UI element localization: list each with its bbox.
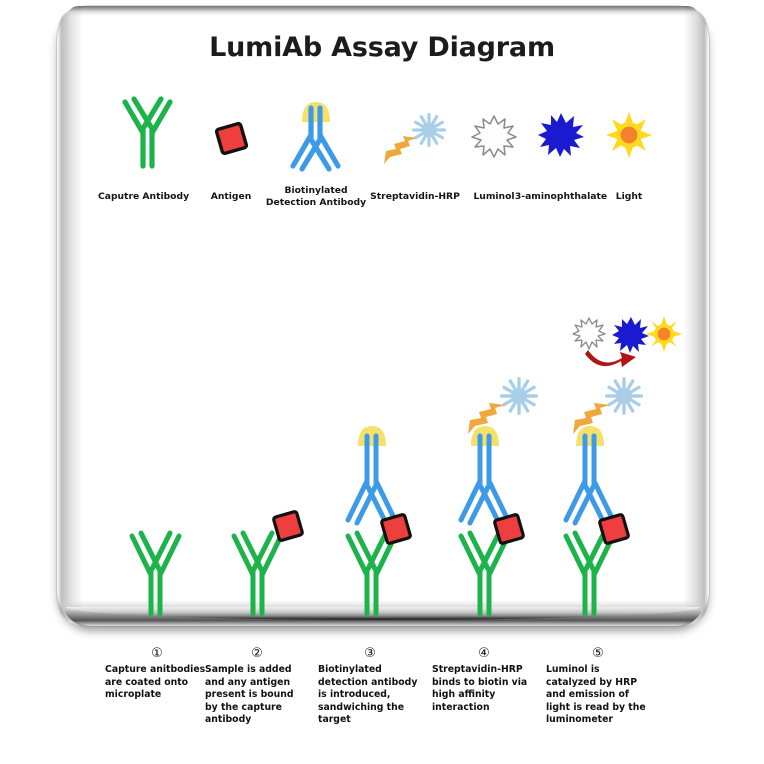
- biotin-cap: [576, 426, 604, 446]
- legend-antigen-icon: [209, 116, 253, 160]
- stage-1-capture-antibody-coated: [118, 530, 194, 616]
- streptavidin-hrp: [573, 377, 643, 434]
- luminol-icon: [573, 318, 605, 349]
- step-text-1: Capture anitbodies are coated onto micro…: [105, 664, 209, 702]
- page-title: LumiAb Assay Diagram: [0, 32, 764, 63]
- step-column-1: ① Capture anitbodies are coated onto mic…: [105, 646, 209, 702]
- antigen: [494, 514, 524, 544]
- capture-antibody: [461, 533, 508, 614]
- step-number-5: ⑤: [546, 646, 650, 661]
- legend-luminol-icon: [470, 114, 518, 158]
- biotinylated-detection-antibody: [348, 436, 395, 523]
- step-text-2: Sample is added and any antigen present …: [205, 664, 309, 727]
- antigen: [599, 514, 629, 544]
- step-number-4: ④: [432, 646, 536, 661]
- legend-label-biotinylated-detection-antibody-line1: Biotinylated: [256, 185, 376, 197]
- light-icon: [646, 316, 682, 352]
- aminophthalate-icon: [612, 317, 649, 353]
- step-number-3: ③: [318, 646, 422, 661]
- reaction-arrow: [585, 350, 636, 367]
- stage-3-detection-antibody-sandwich: [330, 424, 426, 616]
- streptavidin-hrp: [468, 377, 538, 434]
- stage-4-streptavidin-hrp-bound: [443, 374, 561, 616]
- legend-label-capture-antibody: Caputre Antibody: [98, 191, 189, 203]
- antigen: [273, 511, 303, 541]
- stage-2-antigen-bound: [220, 512, 310, 616]
- vessel-wall-left: [57, 6, 83, 626]
- legend-biotinylated-detection-antibody-icon: [285, 100, 347, 172]
- capture-antibody: [348, 533, 395, 614]
- capture-antibody: [132, 533, 179, 614]
- capture-antibody: [566, 533, 613, 614]
- step-number-1: ①: [105, 646, 209, 661]
- stage-5-luminol-reaction: [548, 374, 678, 616]
- biotinylated-detection-antibody: [566, 436, 613, 523]
- step-column-2: ② Sample is added and any antigen presen…: [205, 646, 309, 727]
- legend-label-streptavidin-hrp: Streptavidin-HRP: [363, 191, 467, 203]
- vessel-rim: [68, 6, 698, 16]
- legend-aminophthalate-icon: [537, 112, 585, 158]
- antigen: [381, 514, 411, 544]
- legend-label-aminophthalate: 3-aminophthalate: [509, 191, 613, 203]
- biotinylated-detection-antibody: [461, 436, 508, 523]
- step-text-4: Streptavidin-HRP binds to biotin via hig…: [432, 664, 536, 714]
- stage-5-reaction-row: [572, 316, 684, 372]
- biotin-cap: [471, 426, 499, 446]
- step-column-4: ④ Streptavidin-HRP binds to biotin via h…: [432, 646, 536, 714]
- step-text-5: Luminol is catalyzed by HRP and emission…: [546, 664, 650, 727]
- biotin-cap: [358, 426, 386, 446]
- legend-capture-antibody-icon: [118, 96, 178, 168]
- step-number-2: ②: [205, 646, 309, 661]
- capture-antibody: [234, 533, 281, 614]
- legend-light-icon: [605, 112, 653, 158]
- diagram-canvas: LumiAb Assay Diagram: [0, 0, 764, 764]
- legend-label-biotinylated-detection-antibody-line2: Detection Antibody: [256, 197, 376, 209]
- step-column-5: ⑤ Luminol is catalyzed by HRP and emissi…: [546, 646, 650, 727]
- step-text-3: Biotinylated detection antibody is intro…: [318, 664, 422, 727]
- legend-streptavidin-hrp-icon: [377, 112, 451, 170]
- legend-label-light: Light: [600, 191, 658, 203]
- step-column-3: ③ Biotinylated detection antibody is int…: [318, 646, 422, 727]
- vessel-wall-right: [683, 6, 709, 626]
